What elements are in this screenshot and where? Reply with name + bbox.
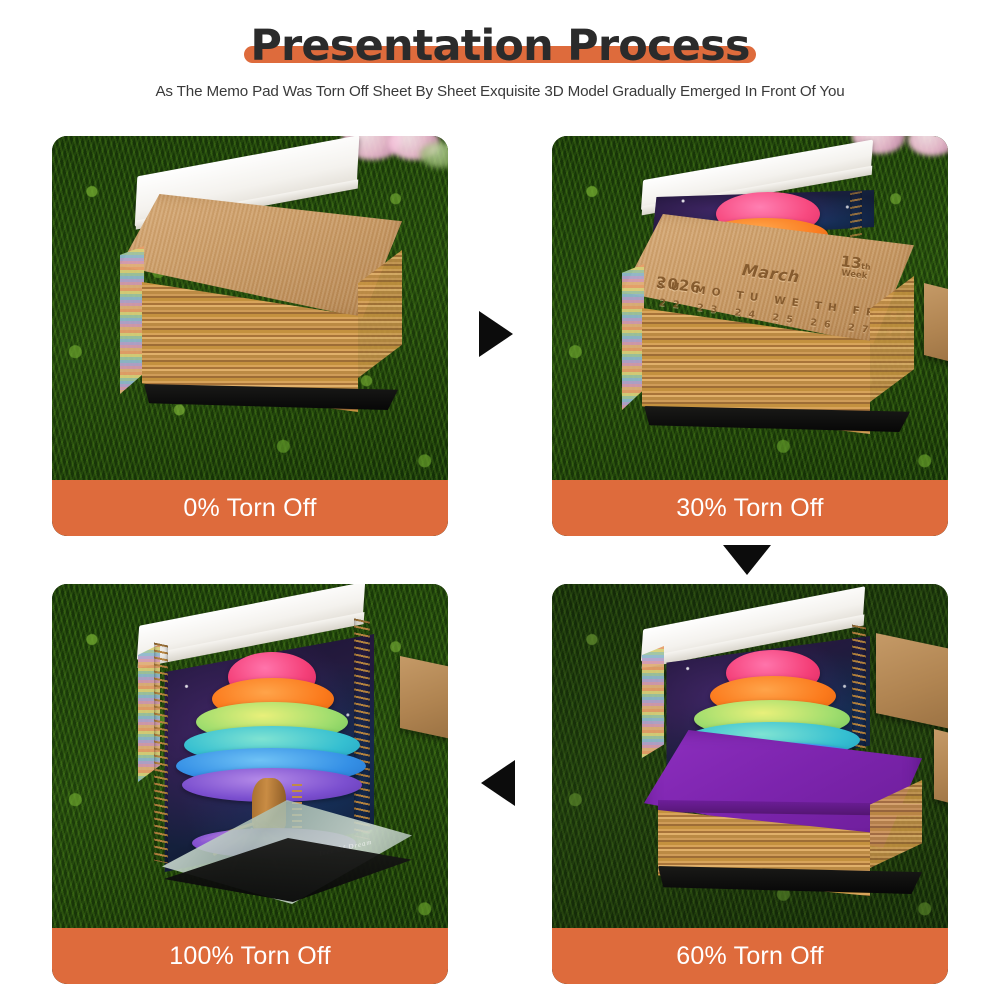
wall-ladder-right (354, 618, 370, 839)
caption-30-percent: 30% Torn Off (552, 480, 948, 536)
photo-30-percent: 2026 March 13th Week SU MO TU WE TH FR S… (552, 136, 948, 480)
arrow-left-icon (481, 760, 515, 806)
loose-kraft-sheet (934, 729, 948, 809)
photo-60-percent (552, 584, 948, 928)
card-30-percent[interactable]: 2026 March 13th Week SU MO TU WE TH FR S… (552, 136, 948, 536)
photo-100-percent: Tree Of Dream (52, 584, 448, 928)
pad-black-base (144, 384, 398, 410)
memo-pad-60 (596, 598, 926, 914)
card-60-percent[interactable]: 60% Torn Off (552, 584, 948, 984)
photo-0-percent (52, 136, 448, 480)
pad-left-edge-pages (120, 246, 144, 394)
page-title: Presentation Process (250, 24, 749, 69)
pad-black-base (658, 866, 922, 894)
caption-60-percent: 60% Torn Off (552, 928, 948, 984)
pad-left-edge-pages (642, 646, 664, 758)
card-0-percent[interactable]: 0% Torn Off (52, 136, 448, 536)
calendar-week-number: 13th Week (839, 254, 872, 281)
wall-ladder-left (154, 643, 168, 864)
card-100-percent[interactable]: Tree Of Dream 100% Torn Off (52, 584, 448, 984)
memo-pad-30: 2026 March 13th Week SU MO TU WE TH FR S… (594, 148, 924, 458)
title-wrap: Presentation Process (250, 24, 749, 69)
process-grid: 0% Torn Off 2026 Marc (52, 136, 948, 984)
memo-pad-complete: Tree Of Dream (96, 594, 416, 914)
caption-0-percent: 0% Torn Off (52, 480, 448, 536)
memo-pad-intact (92, 150, 412, 450)
loose-kraft-sheet (924, 283, 948, 365)
pad-black-base (644, 406, 910, 432)
arrow-right-icon (479, 311, 513, 357)
arrow-down-icon (723, 545, 771, 575)
page-subtitle: As The Memo Pad Was Torn Off Sheet By Sh… (0, 83, 1000, 100)
wall-ladder (850, 191, 862, 241)
pad-left-edge-pages (622, 264, 644, 410)
page-header: Presentation Process As The Memo Pad Was… (0, 0, 1000, 100)
caption-100-percent: 100% Torn Off (52, 928, 448, 984)
